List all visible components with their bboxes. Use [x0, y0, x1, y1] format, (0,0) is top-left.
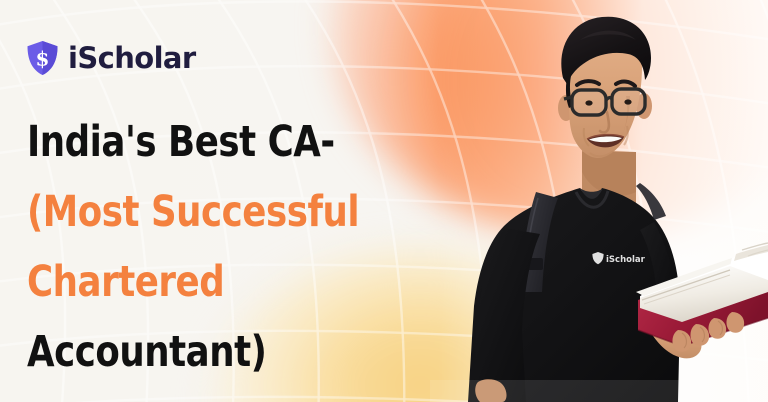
headline-line-2: (Most Successful — [27, 177, 413, 247]
headline-line-3: Chartered — [27, 247, 413, 317]
headline-line-4: Accountant) — [27, 317, 413, 387]
brand-logo[interactable]: $ iScholar — [26, 40, 196, 76]
headline: India's Best CA- (Most Successful Charte… — [27, 107, 447, 387]
svg-text:iScholar: iScholar — [606, 255, 646, 265]
hero-banner: $ iScholar India's Best CA- (Most Succes… — [0, 0, 768, 402]
brand-wordmark: iScholar — [68, 44, 196, 73]
headline-line-1: India's Best CA- — [27, 107, 413, 177]
student-photo: iScholar — [430, 0, 768, 402]
svg-text:$: $ — [36, 47, 50, 71]
shield-dollar-icon: $ — [26, 40, 59, 76]
